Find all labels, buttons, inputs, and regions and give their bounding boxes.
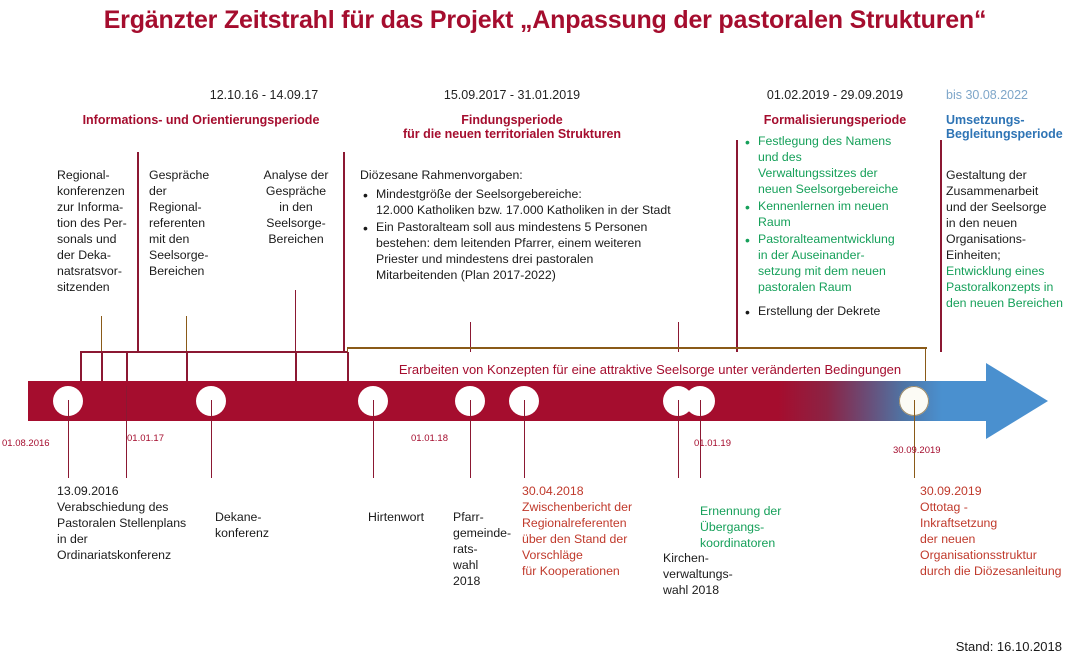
umsetzung-body-black: Gestaltung der Zusammenarbeit und der Se… [946, 168, 1086, 264]
tick-label-2019-09-30: 30.09.2019 [893, 445, 941, 456]
phase-name-line2: für die neuen territorialen Strukturen [360, 127, 664, 141]
phase-separator-4 [940, 140, 942, 352]
phase-separator-3 [736, 140, 738, 352]
phase-formalisierung-title: Formalisierungsperiode [742, 113, 928, 127]
tick-label-2019-01-01: 01.01.19 [694, 438, 731, 449]
tick-label-2016-08-01: 01.08.2016 [2, 438, 50, 449]
event-ottotag: 30.09.2019 Ottotag - Inkraftsetzung der … [920, 484, 1090, 580]
tickline-ernennung [678, 400, 679, 478]
tickline-pfarrgemeinderatswahl [470, 400, 471, 478]
findung-bullet-list: Mindestgröße der Seelsorgebereiche: 12.0… [360, 187, 740, 284]
event-date: 30.09.2019 [920, 484, 1090, 500]
formalisierung-content: Festlegung des Namens und des Verwaltung… [742, 134, 938, 321]
event-text: Verabschiedung des Pastoralen Stellenpla… [57, 500, 227, 564]
tickline-hirtenwort [373, 400, 374, 478]
phase-umsetzung-date: bis 30.08.2022 [946, 88, 1086, 102]
col-gespraeche-regionalreferenten: Gespräche der Regional- referenten mit d… [149, 168, 229, 280]
phase-date-text: 15.09.2017 - 31.01.2019 [362, 88, 662, 102]
col-regionalkonferenzen: Regional- konferenzen zur Informa- tion … [57, 168, 147, 296]
event-text: Ottotag - Inkraftsetzung der neuen Organ… [920, 500, 1090, 580]
phase-findung-date: 15.09.2017 - 31.01.2019 [362, 88, 662, 102]
phase-name-text: Informations- und Orientierungsperiode [36, 113, 366, 127]
list-item: Ein Pastoralteam soll aus mindestens 5 P… [376, 220, 740, 284]
list-item: Mindestgröße der Seelsorgebereiche: 12.0… [376, 187, 740, 219]
findung-content: Diözesane Rahmenvorgaben: Mindestgröße d… [360, 168, 740, 285]
phase-date-text: 01.02.2019 - 29.09.2019 [742, 88, 928, 102]
event-date: 13.09.2016 [57, 484, 227, 500]
event-dekanekonferenz: Dekane- konferenz [215, 510, 295, 542]
phase-formalisierung-date: 01.02.2019 - 29.09.2019 [742, 88, 928, 102]
event-date: 30.04.2018 [522, 484, 658, 500]
tickline-zwischenbericht [524, 400, 525, 478]
event-kirchenverwaltungswahl: Kirchen- verwaltungs- wahl 2018 [663, 551, 773, 599]
list-item: Kennenlernen im neuen Raum [758, 199, 938, 231]
phase-separator-2 [343, 152, 345, 352]
umsetzung-body-green: Entwicklung eines Pastoralkonzepts in de… [946, 264, 1088, 312]
footer-stand: Stand: 16.10.2018 [956, 639, 1062, 654]
formalisierung-bullet-list: Festlegung des Namens und des Verwaltung… [742, 134, 938, 296]
phase-separator-1 [137, 152, 139, 352]
event-verabschiedung-stellenplan: 13.09.2016 Verabschiedung des Pastoralen… [57, 484, 227, 564]
timeline-arrow-head-icon [986, 363, 1048, 439]
list-item: Pastoralteamentwicklung in der Auseinand… [758, 232, 938, 296]
phase-findung-title: Findungsperiode für die neuen territoria… [360, 113, 664, 141]
event-hirtenwort: Hirtenwort [368, 510, 448, 526]
phase-name-line2: Begleitungsperiode [946, 127, 1086, 141]
phase-name-line1: Umsetzungs- [946, 113, 1086, 127]
col-analyse-gespraeche: Analyse der Gespräche in den Seelsorge- … [248, 168, 344, 248]
phase-umsetzung-title: Umsetzungs- Begleitungsperiode [946, 113, 1086, 141]
tickline-2017-01-17 [126, 386, 127, 478]
event-pfarrgemeinderatswahl: Pfarr- gemeinde- rats- wahl 2018 [453, 510, 515, 590]
event-ernennung-uebergangskoordinatoren: Ernennung der Übergangs- koordinatoren [700, 504, 810, 552]
phase-name-text: Formalisierungsperiode [742, 113, 928, 127]
tick-label-2017-01-01: 01.01.17 [127, 433, 164, 444]
list-item: Festlegung des Namens und des Verwaltung… [758, 134, 938, 198]
tick-label-2018-01-01: 01.01.18 [411, 433, 448, 444]
event-text: Zwischenbericht der Regionalreferenten ü… [522, 500, 658, 580]
phase-informations-title: Informations- und Orientierungsperiode [36, 113, 366, 127]
tickline-2016-08-01 [68, 400, 69, 478]
formalisierung-bullet-list-black: Erstellung der Dekrete [742, 304, 938, 320]
list-item: Erstellung der Dekrete [758, 304, 938, 320]
page-title: Ergänzter Zeitstrahl für das Projekt „An… [0, 6, 1090, 35]
phase-name-line1: Findungsperiode [360, 113, 664, 127]
phase-date-text: bis 30.08.2022 [946, 88, 1086, 102]
event-zwischenbericht: 30.04.2018 Zwischenbericht der Regionalr… [522, 484, 658, 580]
findung-intro: Diözesane Rahmenvorgaben: [360, 168, 740, 184]
tickline-2019-09-30 [914, 400, 915, 478]
timeline-bar [0, 330, 1090, 450]
tickline-dekanekonferenz [211, 400, 212, 478]
